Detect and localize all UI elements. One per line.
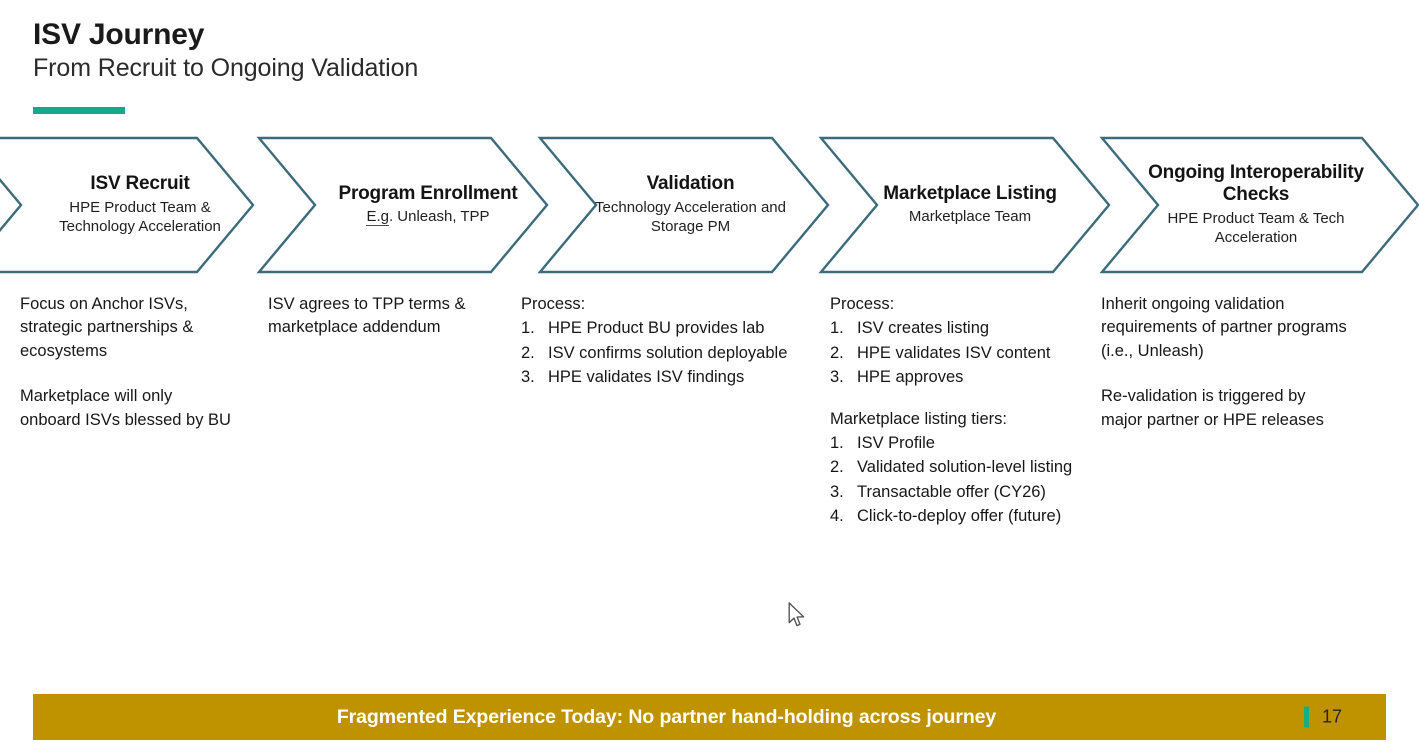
page-subtitle: From Recruit to Ongoing Validation xyxy=(33,53,418,84)
column-4-tiers-list: 1.ISV Profile 2.Validated solution-level… xyxy=(830,431,1120,529)
list-item-text: Click-to-deploy offer (future) xyxy=(857,507,1061,525)
column-5-p1-line1: Inherit ongoing validation xyxy=(1101,295,1284,313)
column-5-p1-line2: requirements of partner programs xyxy=(1101,318,1347,336)
column-1-spacer xyxy=(20,363,256,385)
list-item: 3.Transactable offer (CY26) xyxy=(830,480,1120,504)
page-number: 17 xyxy=(1322,707,1342,728)
column-5-paragraph-2: Re-validation is triggered by major part… xyxy=(1101,385,1401,432)
list-item-number: 2. xyxy=(521,341,535,365)
detail-column-3: Process: 1.HPE Product BU provides lab 2… xyxy=(521,293,821,390)
list-item: 4.Click-to-deploy offer (future) xyxy=(830,504,1120,528)
column-1-p1-line3: ecosystems xyxy=(20,342,107,360)
column-5-spacer xyxy=(1101,363,1401,385)
column-2-p1-line1: ISV agrees to TPP terms & xyxy=(268,295,465,313)
page-marker: 17 xyxy=(1304,707,1342,728)
detail-column-1: Focus on Anchor ISVs, strategic partners… xyxy=(20,293,256,432)
column-2-paragraph-1: ISV agrees to TPP terms & marketplace ad… xyxy=(268,293,508,340)
list-item: 3.HPE approves xyxy=(830,365,1120,389)
list-item-text: ISV Profile xyxy=(857,434,935,452)
page-title: ISV Journey xyxy=(33,18,418,51)
column-1-p2-line2: onboard ISVs blessed by BU xyxy=(20,411,231,429)
list-item: 2.ISV confirms solution deployable xyxy=(521,341,821,365)
list-item-text: HPE approves xyxy=(857,368,963,386)
footer-banner-text: Fragmented Experience Today: No partner … xyxy=(337,706,996,729)
chevron-step-2[interactable] xyxy=(258,137,548,273)
list-item-text: HPE validates ISV findings xyxy=(548,368,744,386)
list-item-number: 3. xyxy=(830,365,844,389)
column-4-lead: Process: xyxy=(830,293,1120,316)
column-1-p2-line1: Marketplace will only xyxy=(20,387,172,405)
column-3-lead: Process: xyxy=(521,293,821,316)
chevron-step-1[interactable] xyxy=(0,137,254,273)
page-tick-icon xyxy=(1304,707,1309,728)
list-item-number: 4. xyxy=(830,504,844,528)
detail-column-5: Inherit ongoing validation requirements … xyxy=(1101,293,1401,432)
column-4-lead-2: Marketplace listing tiers: xyxy=(830,408,1120,431)
list-item-text: HPE validates ISV content xyxy=(857,344,1051,362)
column-1-p1-line2: strategic partnerships & xyxy=(20,318,193,336)
chevron-step-4[interactable] xyxy=(820,137,1110,273)
column-5-p2-line1: Re-validation is triggered by xyxy=(1101,387,1306,405)
column-1-paragraph-2: Marketplace will only onboard ISVs bless… xyxy=(20,385,256,432)
list-item: 1.HPE Product BU provides lab xyxy=(521,316,821,340)
slide-canvas: ISV Journey From Recruit to Ongoing Vali… xyxy=(0,0,1419,749)
detail-column-4: Process: 1.ISV creates listing 2.HPE val… xyxy=(830,293,1120,529)
list-item: 1.ISV Profile xyxy=(830,431,1120,455)
column-4-process-list: 1.ISV creates listing 2.HPE validates IS… xyxy=(830,316,1120,389)
list-item-number: 2. xyxy=(830,341,844,365)
list-item-number: 1. xyxy=(830,316,844,340)
list-item: 2.HPE validates ISV content xyxy=(830,341,1120,365)
list-item-text: HPE Product BU provides lab xyxy=(548,319,764,337)
list-item-text: ISV creates listing xyxy=(857,319,989,337)
accent-rule xyxy=(33,107,125,114)
list-item-number: 2. xyxy=(830,455,844,479)
list-item-number: 3. xyxy=(830,480,844,504)
list-item-text: ISV confirms solution deployable xyxy=(548,344,787,362)
list-item-text: Validated solution-level listing xyxy=(857,458,1072,476)
column-1-p1-line1: Focus on Anchor ISVs, xyxy=(20,295,188,313)
column-4-spacer xyxy=(830,390,1120,408)
list-item: 2.Validated solution-level listing xyxy=(830,455,1120,479)
list-item: 1.ISV creates listing xyxy=(830,316,1120,340)
list-item-number: 3. xyxy=(521,365,535,389)
chevron-step-3[interactable] xyxy=(539,137,829,273)
column-5-p2-line2: major partner or HPE releases xyxy=(1101,411,1324,429)
column-2-p1-line2: marketplace addendum xyxy=(268,318,440,336)
list-item-number: 1. xyxy=(521,316,535,340)
process-chevron-band: ISV Recruit HPE Product Team & Technolog… xyxy=(0,137,1419,273)
mouse-cursor-icon xyxy=(788,602,806,629)
column-5-p1-line3: (i.e., Unleash) xyxy=(1101,342,1204,360)
column-5-paragraph-1: Inherit ongoing validation requirements … xyxy=(1101,293,1401,363)
list-item-number: 1. xyxy=(830,431,844,455)
title-block: ISV Journey From Recruit to Ongoing Vali… xyxy=(33,18,418,84)
list-item-text: Transactable offer (CY26) xyxy=(857,483,1046,501)
chevron-step-5[interactable] xyxy=(1101,137,1419,273)
list-item: 3.HPE validates ISV findings xyxy=(521,365,821,389)
column-1-paragraph-1: Focus on Anchor ISVs, strategic partners… xyxy=(20,293,256,363)
detail-column-2: ISV agrees to TPP terms & marketplace ad… xyxy=(268,293,508,340)
footer-banner: Fragmented Experience Today: No partner … xyxy=(33,694,1386,740)
column-3-process-list: 1.HPE Product BU provides lab 2.ISV conf… xyxy=(521,316,821,389)
